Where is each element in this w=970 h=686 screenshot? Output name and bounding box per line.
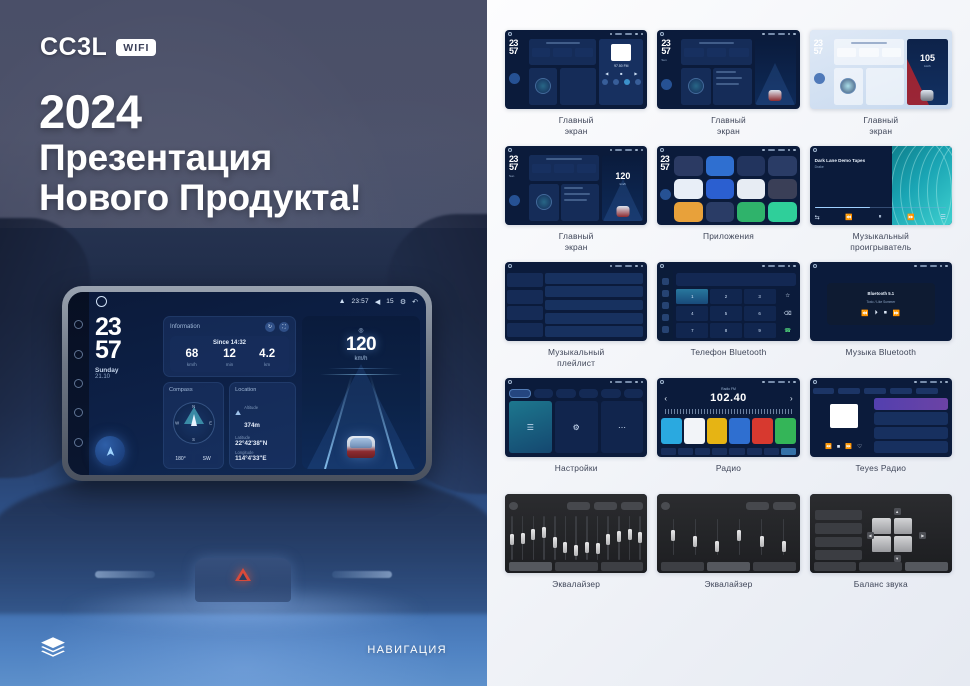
app-icon[interactable] — [706, 179, 734, 199]
eq-thumb[interactable] — [585, 542, 589, 553]
next-icon[interactable]: ⏩ — [893, 310, 900, 317]
wifi-tile[interactable]: ☰ — [509, 401, 552, 453]
thumb-music-player-image[interactable]: Dark Lane Demo Tapes Drake ⇆ ⏪ ⏸ ⏩ ☰ — [810, 146, 952, 225]
app-icon[interactable] — [674, 156, 702, 176]
footer-button[interactable] — [905, 562, 948, 571]
dial-key[interactable]: 3 — [744, 289, 776, 304]
eq-band[interactable] — [628, 516, 632, 560]
media-controls[interactable]: ⏪ ⏵ ⏹ ⏩ — [861, 310, 900, 317]
playlist-sidebar[interactable] — [507, 273, 543, 337]
rail-mic-icon[interactable] — [74, 438, 83, 447]
eq-thumb[interactable] — [606, 534, 610, 545]
mountain-icon: ⛰ — [235, 410, 241, 418]
nav-icon[interactable] — [662, 326, 669, 333]
arrow-down-button[interactable]: ▼ — [894, 555, 901, 562]
tab-sound[interactable] — [534, 389, 554, 398]
preset-row[interactable] — [815, 510, 862, 520]
toolbar-button[interactable] — [729, 448, 744, 455]
volume-icon[interactable]: ◀ — [375, 298, 380, 306]
stat-distance — [882, 48, 901, 57]
eq-band[interactable] — [574, 516, 578, 560]
toolbar-button[interactable] — [695, 448, 710, 455]
tab-icon-active[interactable] — [624, 79, 630, 85]
gear-icon[interactable] — [940, 265, 943, 268]
tab-item[interactable] — [838, 388, 860, 394]
tab-icon[interactable] — [613, 79, 619, 85]
head-unit-screen[interactable]: ▲ 23:57 ◀ 15 ⚙ ↶ 23 57 Sunday 21.10 — [68, 292, 426, 475]
eq-thumb[interactable] — [563, 542, 567, 553]
eq-band[interactable] — [715, 519, 719, 556]
rail-volume-down-icon[interactable] — [74, 408, 83, 417]
tab-display[interactable] — [556, 389, 576, 398]
prev-icon[interactable]: ⏪ — [825, 444, 832, 450]
station-preset[interactable] — [707, 418, 728, 444]
next-icon[interactable]: ⏩ — [845, 444, 852, 450]
app-icon[interactable] — [706, 156, 734, 176]
dialer-actions[interactable]: ☆ ⌫ ☎ — [779, 289, 797, 338]
footer-button[interactable] — [814, 562, 857, 571]
driving-view[interactable]: 105 km/h — [907, 39, 948, 105]
sidebar-item[interactable] — [507, 273, 543, 287]
car-settings-tile[interactable]: ⚙ — [555, 401, 598, 453]
radio-toolbar[interactable] — [661, 448, 795, 455]
volume-icon — [930, 265, 937, 267]
teyes-tabs[interactable] — [813, 388, 949, 394]
information-stats — [684, 48, 748, 57]
preset-tiles[interactable] — [661, 418, 795, 444]
toolbar-button[interactable] — [764, 448, 779, 455]
expand-icon[interactable]: ⛶ — [279, 322, 289, 332]
driving-view[interactable] — [755, 39, 796, 105]
app-icon[interactable] — [737, 179, 765, 199]
headline-year: 2024 — [39, 87, 362, 138]
thumb-equalizer-2-image[interactable] — [657, 494, 799, 573]
location-card[interactable]: Location ⛰ Altitude 374m — [229, 382, 296, 469]
eq-band[interactable] — [531, 516, 535, 560]
tab-item[interactable] — [813, 388, 835, 394]
tab-general[interactable] — [601, 389, 621, 398]
call-icon[interactable]: ☎ — [779, 323, 797, 338]
stat-value: 12 — [211, 349, 249, 361]
eq-thumb[interactable] — [693, 536, 697, 547]
sidebar-item[interactable] — [507, 290, 543, 304]
track-row[interactable] — [545, 286, 643, 297]
eq-thumb[interactable] — [553, 537, 557, 548]
thumb-radio-caption: Радио — [716, 463, 741, 485]
prev-icon[interactable]: ⏪ — [845, 214, 852, 221]
thumb-home-screen-3: 23 57 10 — [810, 30, 952, 137]
eq-band[interactable] — [638, 516, 642, 560]
eq-band[interactable] — [585, 516, 589, 560]
gear-icon[interactable] — [940, 381, 943, 384]
driving-view[interactable]: 120 km/h — [602, 155, 643, 221]
track-row[interactable] — [545, 313, 643, 324]
navigation-arrow-button[interactable] — [661, 79, 672, 90]
thumb-home-screen-4-image[interactable]: 23 57 Sun — [505, 146, 647, 225]
compass-card[interactable] — [529, 68, 557, 106]
seek-bar[interactable] — [815, 207, 946, 209]
next-icon[interactable]: ⏩ — [907, 214, 914, 221]
eq-sliders[interactable] — [510, 516, 642, 560]
track-row[interactable] — [545, 273, 643, 284]
preset-button[interactable] — [746, 502, 769, 510]
wifi-badge: WIFI — [116, 39, 156, 56]
air-vent-left — [95, 571, 155, 578]
settings-tabs[interactable] — [509, 389, 643, 398]
information-card[interactable] — [529, 39, 596, 65]
bluetooth-title: Bluetooth 5.1 — [868, 291, 895, 296]
eq-thumb[interactable] — [510, 534, 514, 545]
back-button[interactable] — [660, 189, 671, 200]
back-arrow-icon[interactable] — [641, 381, 644, 384]
station-row[interactable] — [874, 398, 948, 410]
tab-network[interactable] — [579, 389, 599, 398]
eq-band[interactable] — [617, 516, 621, 560]
playlist-icon[interactable]: ☰ — [941, 214, 946, 221]
shuffle-icon[interactable]: ⇆ — [815, 214, 820, 221]
dial-key[interactable]: 1 — [676, 289, 708, 304]
prev-icon[interactable]: ◀ — [605, 71, 608, 76]
thumb-apps-image[interactable]: 23 57 — [657, 146, 799, 225]
tab-item[interactable] — [916, 388, 938, 394]
widget-column — [681, 39, 751, 105]
station-row[interactable] — [874, 427, 948, 439]
station-preset[interactable] — [661, 418, 682, 444]
gear-icon[interactable] — [635, 265, 638, 268]
clock-widget: 23 57 Sun — [509, 155, 526, 221]
information-stats — [532, 164, 596, 173]
more-tile[interactable]: ⋯ — [601, 401, 644, 453]
back-arrow-icon[interactable]: ↶ — [412, 298, 418, 306]
thumb-bluetooth-phone-image[interactable]: 123456789 ☆ ⌫ ☎ — [657, 262, 799, 341]
eq-thumb[interactable] — [596, 543, 600, 554]
information-card[interactable] — [529, 155, 599, 181]
stat-value: 68 — [173, 349, 211, 361]
navigation-arrow-button[interactable] — [509, 73, 520, 84]
thumb-bluetooth-music-image[interactable]: Bluetooth 5.1 Toxic / Like Summer ⏪ ⏵ ⏹ … — [810, 262, 952, 341]
nav-icon[interactable] — [662, 314, 669, 321]
favorite-icon[interactable]: ♡ — [857, 444, 862, 450]
eq-band[interactable] — [596, 516, 600, 560]
driving-view[interactable]: ◎ 120 km/h — [302, 316, 420, 469]
gear-icon[interactable]: ⚙ — [400, 298, 406, 306]
preset-knob-icon[interactable] — [509, 502, 518, 510]
track-list[interactable] — [545, 273, 643, 337]
information-title: Information — [170, 324, 200, 330]
app-icon[interactable] — [737, 156, 765, 176]
dialer-nav-rail[interactable] — [657, 270, 673, 341]
equalizer-header[interactable] — [509, 502, 643, 510]
eq-thumb[interactable] — [782, 541, 786, 552]
app-icon[interactable] — [674, 202, 702, 222]
stat-duration — [553, 48, 571, 57]
seat-grid[interactable] — [872, 518, 912, 552]
thumb-home-screen-2-image[interactable]: 23 57 Sun — [657, 30, 799, 109]
arrow-up-button[interactable]: ▲ — [894, 508, 901, 515]
navigation-arrow-button[interactable] — [95, 436, 125, 466]
eq-thumb[interactable] — [671, 530, 675, 541]
volume-icon — [930, 381, 937, 383]
eq-band[interactable] — [563, 516, 567, 560]
app-icon[interactable] — [706, 202, 734, 222]
footer-button[interactable] — [753, 562, 796, 571]
app-icon[interactable] — [768, 156, 796, 176]
eq-sliders[interactable] — [662, 514, 794, 560]
station-preset[interactable] — [684, 418, 705, 444]
preset-row[interactable] — [815, 550, 862, 560]
information-title — [546, 42, 580, 44]
information-card[interactable]: Information ↻ ⛶ Since 14:32 — [163, 316, 296, 377]
preset-row[interactable] — [815, 537, 862, 547]
seek-progress — [815, 207, 870, 209]
stop-icon[interactable]: ⏹ — [884, 310, 887, 317]
app-icon[interactable] — [768, 202, 796, 222]
media-controls[interactable]: ◀■▶ — [599, 71, 643, 76]
sidebar-item[interactable] — [507, 323, 543, 337]
compass-card[interactable] — [681, 68, 711, 106]
home-icon[interactable] — [96, 296, 107, 307]
rail-volume-up-icon[interactable] — [74, 350, 83, 359]
thumb-teyes-radio-caption: Teyes Радио — [856, 463, 907, 485]
balance-footer[interactable] — [814, 562, 948, 571]
seat-rear-left[interactable] — [872, 536, 891, 552]
thumb-home-screen-1-image[interactable]: 23 57 97 — [505, 30, 647, 109]
screenshot-gallery-panel: 23 57 97 — [487, 0, 970, 686]
track-title: Dark Lane Demo Tapes — [815, 158, 888, 163]
location-card[interactable] — [561, 184, 599, 222]
footer-button[interactable] — [661, 562, 704, 571]
car-3d-model — [344, 426, 378, 460]
back-arrow-icon[interactable] — [793, 265, 796, 268]
thumb-music-playlist-image[interactable] — [505, 262, 647, 341]
eq-thumb[interactable] — [574, 545, 578, 556]
footer-button[interactable] — [555, 562, 598, 571]
seat-rear-right[interactable] — [894, 536, 913, 552]
navigation-arrow-button[interactable] — [814, 73, 825, 84]
speed-icon: ◎ — [358, 327, 363, 334]
thumb-bluetooth-music-caption: Музыка Bluetooth — [846, 347, 917, 369]
thumb-settings-image[interactable]: ☰ ⚙ ⋯ — [505, 378, 647, 457]
thumb-radio-image[interactable]: Radio FM 102.40 ‹ › — [657, 378, 799, 457]
toolbar-button[interactable] — [781, 448, 796, 455]
eq-thumb[interactable] — [760, 536, 764, 547]
toolbar-button[interactable] — [712, 448, 727, 455]
phone-number-input[interactable] — [676, 273, 795, 286]
back-arrow-icon[interactable] — [641, 265, 644, 268]
toolbar-button[interactable] — [747, 448, 762, 455]
nav-icon[interactable] — [662, 278, 669, 285]
eq-thumb[interactable] — [638, 532, 642, 543]
eq-band[interactable] — [606, 516, 610, 560]
eq-thumb[interactable] — [542, 527, 546, 538]
station-preset[interactable] — [775, 418, 796, 444]
app-icon[interactable] — [737, 202, 765, 222]
dial-key[interactable]: 4 — [676, 306, 708, 321]
back-arrow-icon[interactable] — [793, 381, 796, 384]
compass-dial-wrap: N E S W — [169, 395, 218, 451]
equalizer-footer[interactable] — [661, 562, 795, 571]
preset-row[interactable] — [815, 523, 862, 533]
footer-button[interactable] — [601, 562, 644, 571]
navigation-arrow-button[interactable] — [509, 195, 520, 206]
clock-day: Sun — [661, 58, 678, 62]
nav-icon[interactable] — [662, 290, 669, 297]
rail-home-icon[interactable] — [74, 379, 83, 388]
eq-thumb[interactable] — [737, 530, 741, 541]
compass-dial — [840, 78, 856, 94]
stat-unit: km — [248, 362, 286, 367]
back-arrow-icon[interactable] — [945, 381, 948, 384]
media-controls[interactable]: ⏪ ■ ⏩ ♡ — [816, 444, 872, 450]
eq-band[interactable] — [521, 516, 525, 560]
bluetooth-track: Toxic / Like Summer — [866, 300, 895, 304]
eq-thumb[interactable] — [531, 529, 535, 540]
app-icon[interactable] — [674, 179, 702, 199]
now-playing: ⏪ ■ ⏩ ♡ — [814, 398, 874, 453]
dial-key[interactable]: 8 — [710, 323, 742, 338]
eq-band[interactable] — [760, 519, 764, 556]
eq-band[interactable] — [782, 519, 786, 556]
next-icon[interactable]: ▶ — [634, 71, 637, 76]
track-row[interactable] — [545, 300, 643, 311]
preset-button[interactable] — [594, 502, 617, 510]
arrow-left-button[interactable]: ◀ — [867, 532, 874, 539]
seat-front-right[interactable] — [894, 518, 913, 534]
tab-item[interactable] — [890, 388, 912, 394]
toolbar-button[interactable] — [661, 448, 676, 455]
station-list[interactable] — [874, 398, 948, 453]
sidebar-item[interactable] — [507, 306, 543, 320]
prev-icon[interactable]: ⏪ — [861, 310, 868, 317]
preset-knob-icon[interactable] — [661, 502, 670, 510]
album-art — [830, 404, 858, 428]
back-arrow-icon[interactable] — [945, 265, 948, 268]
clock-minutes: 57 — [95, 339, 157, 362]
seat-front-left[interactable] — [872, 518, 891, 534]
information-card[interactable] — [681, 39, 751, 65]
toolbar-button[interactable] — [678, 448, 693, 455]
dial-key[interactable]: 2 — [710, 289, 742, 304]
clock-widget: 23 57 — [814, 39, 831, 105]
thumb-settings-caption: Настройки — [555, 463, 598, 485]
arrow-right-button[interactable]: ▶ — [919, 532, 926, 539]
eq-thumb[interactable] — [628, 529, 632, 540]
volume-icon — [778, 265, 785, 267]
station-row[interactable] — [874, 412, 948, 424]
thumb-music-playlist: Музыкальный плейлист — [505, 262, 647, 369]
favorite-icon[interactable]: ☆ — [779, 289, 797, 304]
information-title — [699, 42, 734, 44]
information-card[interactable] — [834, 39, 904, 65]
tuning-dial[interactable] — [665, 409, 791, 414]
rail-power-icon[interactable] — [74, 320, 83, 329]
head-unit-bezel: ▲ 23:57 ◀ 15 ⚙ ↶ 23 57 Sunday 21.10 — [62, 286, 432, 481]
gear-icon[interactable] — [788, 265, 791, 268]
eq-band[interactable] — [693, 519, 697, 556]
layers-icon — [40, 636, 66, 658]
station-preset[interactable] — [729, 418, 750, 444]
left-hero-panel: CC3L WIFI 2024 Презентация Нового Продук… — [0, 0, 487, 686]
thumb-home-screen-3-image[interactable]: 23 57 10 — [810, 30, 952, 109]
settings-tiles[interactable]: ☰ ⚙ ⋯ — [509, 401, 643, 453]
location-card[interactable] — [560, 68, 597, 106]
music-widget[interactable]: 97.50 FM ◀■▶ — [599, 39, 643, 105]
eq-band[interactable] — [553, 516, 557, 560]
equalizer-header[interactable] — [661, 502, 795, 510]
tab-item[interactable] — [864, 388, 886, 394]
media-controls[interactable]: ⇆ ⏪ ⏸ ⏩ ☰ — [815, 214, 946, 221]
nav-icon[interactable] — [662, 302, 669, 309]
compass-card[interactable] — [529, 184, 559, 222]
presentation-slide: CC3L WIFI 2024 Презентация Нового Продук… — [0, 0, 970, 686]
backspace-icon[interactable]: ⌫ — [779, 306, 797, 321]
eq-thumb[interactable] — [521, 533, 525, 544]
compass-card[interactable] — [834, 68, 864, 106]
preset-button[interactable] — [621, 502, 644, 510]
status-time: 23:57 — [352, 298, 369, 305]
next-station-icon[interactable]: › — [790, 394, 793, 403]
eq-band[interactable] — [737, 519, 741, 556]
location-card[interactable] — [866, 68, 904, 106]
station-preset[interactable] — [752, 418, 773, 444]
location-altitude: Altitude 374m — [244, 396, 260, 432]
footer-button[interactable] — [509, 562, 552, 571]
status-time — [615, 265, 622, 267]
thumb-sound-balance-image[interactable]: ▲ ▼ ◀ ▶ — [810, 494, 952, 573]
balance-presets[interactable] — [815, 510, 862, 560]
station-row[interactable] — [874, 441, 948, 453]
footer-button[interactable] — [859, 562, 902, 571]
tab-icon[interactable] — [635, 79, 641, 85]
location-card[interactable] — [713, 68, 751, 106]
gear-icon[interactable] — [635, 381, 638, 384]
dial-key[interactable]: 6 — [744, 306, 776, 321]
media-tabs[interactable] — [599, 79, 643, 85]
gear-icon[interactable] — [788, 381, 791, 384]
tab-wifi[interactable] — [509, 389, 531, 398]
eq-thumb[interactable] — [715, 541, 719, 552]
status-bar: ▲ 23:57 ◀ 15 ⚙ ↶ — [89, 292, 426, 311]
footer-button[interactable] — [707, 562, 750, 571]
app-icon[interactable] — [768, 179, 796, 199]
thumb-teyes-radio-image[interactable]: ⏪ ■ ⏩ ♡ — [810, 378, 952, 457]
eq-band[interactable] — [542, 516, 546, 560]
clock-minutes: 57 — [661, 47, 678, 55]
preset-button[interactable] — [567, 502, 590, 510]
compass-card[interactable]: Compass N E S W — [163, 382, 224, 469]
tab-icon[interactable] — [602, 79, 608, 85]
eq-thumb[interactable] — [617, 531, 621, 542]
pause-icon[interactable]: ⏸ — [879, 214, 882, 221]
preset-button[interactable] — [773, 502, 796, 510]
dial-key[interactable]: 9 — [744, 323, 776, 338]
dial-key[interactable]: 5 — [710, 306, 742, 321]
eq-band[interactable] — [510, 516, 514, 560]
dial-key[interactable]: 7 — [676, 323, 708, 338]
track-row[interactable] — [545, 326, 643, 337]
information-stats — [532, 48, 593, 57]
stop-icon[interactable]: ■ — [837, 444, 840, 450]
equalizer-footer[interactable] — [509, 562, 643, 571]
dial-pad[interactable]: 123456789 — [676, 289, 775, 338]
eq-band[interactable] — [671, 519, 675, 556]
play-icon[interactable]: ⏵ — [875, 310, 878, 317]
prev-station-icon[interactable]: ‹ — [664, 394, 667, 403]
refresh-icon[interactable]: ↻ — [265, 322, 275, 332]
stop-icon[interactable]: ■ — [620, 71, 622, 76]
tab-system[interactable] — [624, 389, 644, 398]
thumb-equalizer-1-image[interactable] — [505, 494, 647, 573]
